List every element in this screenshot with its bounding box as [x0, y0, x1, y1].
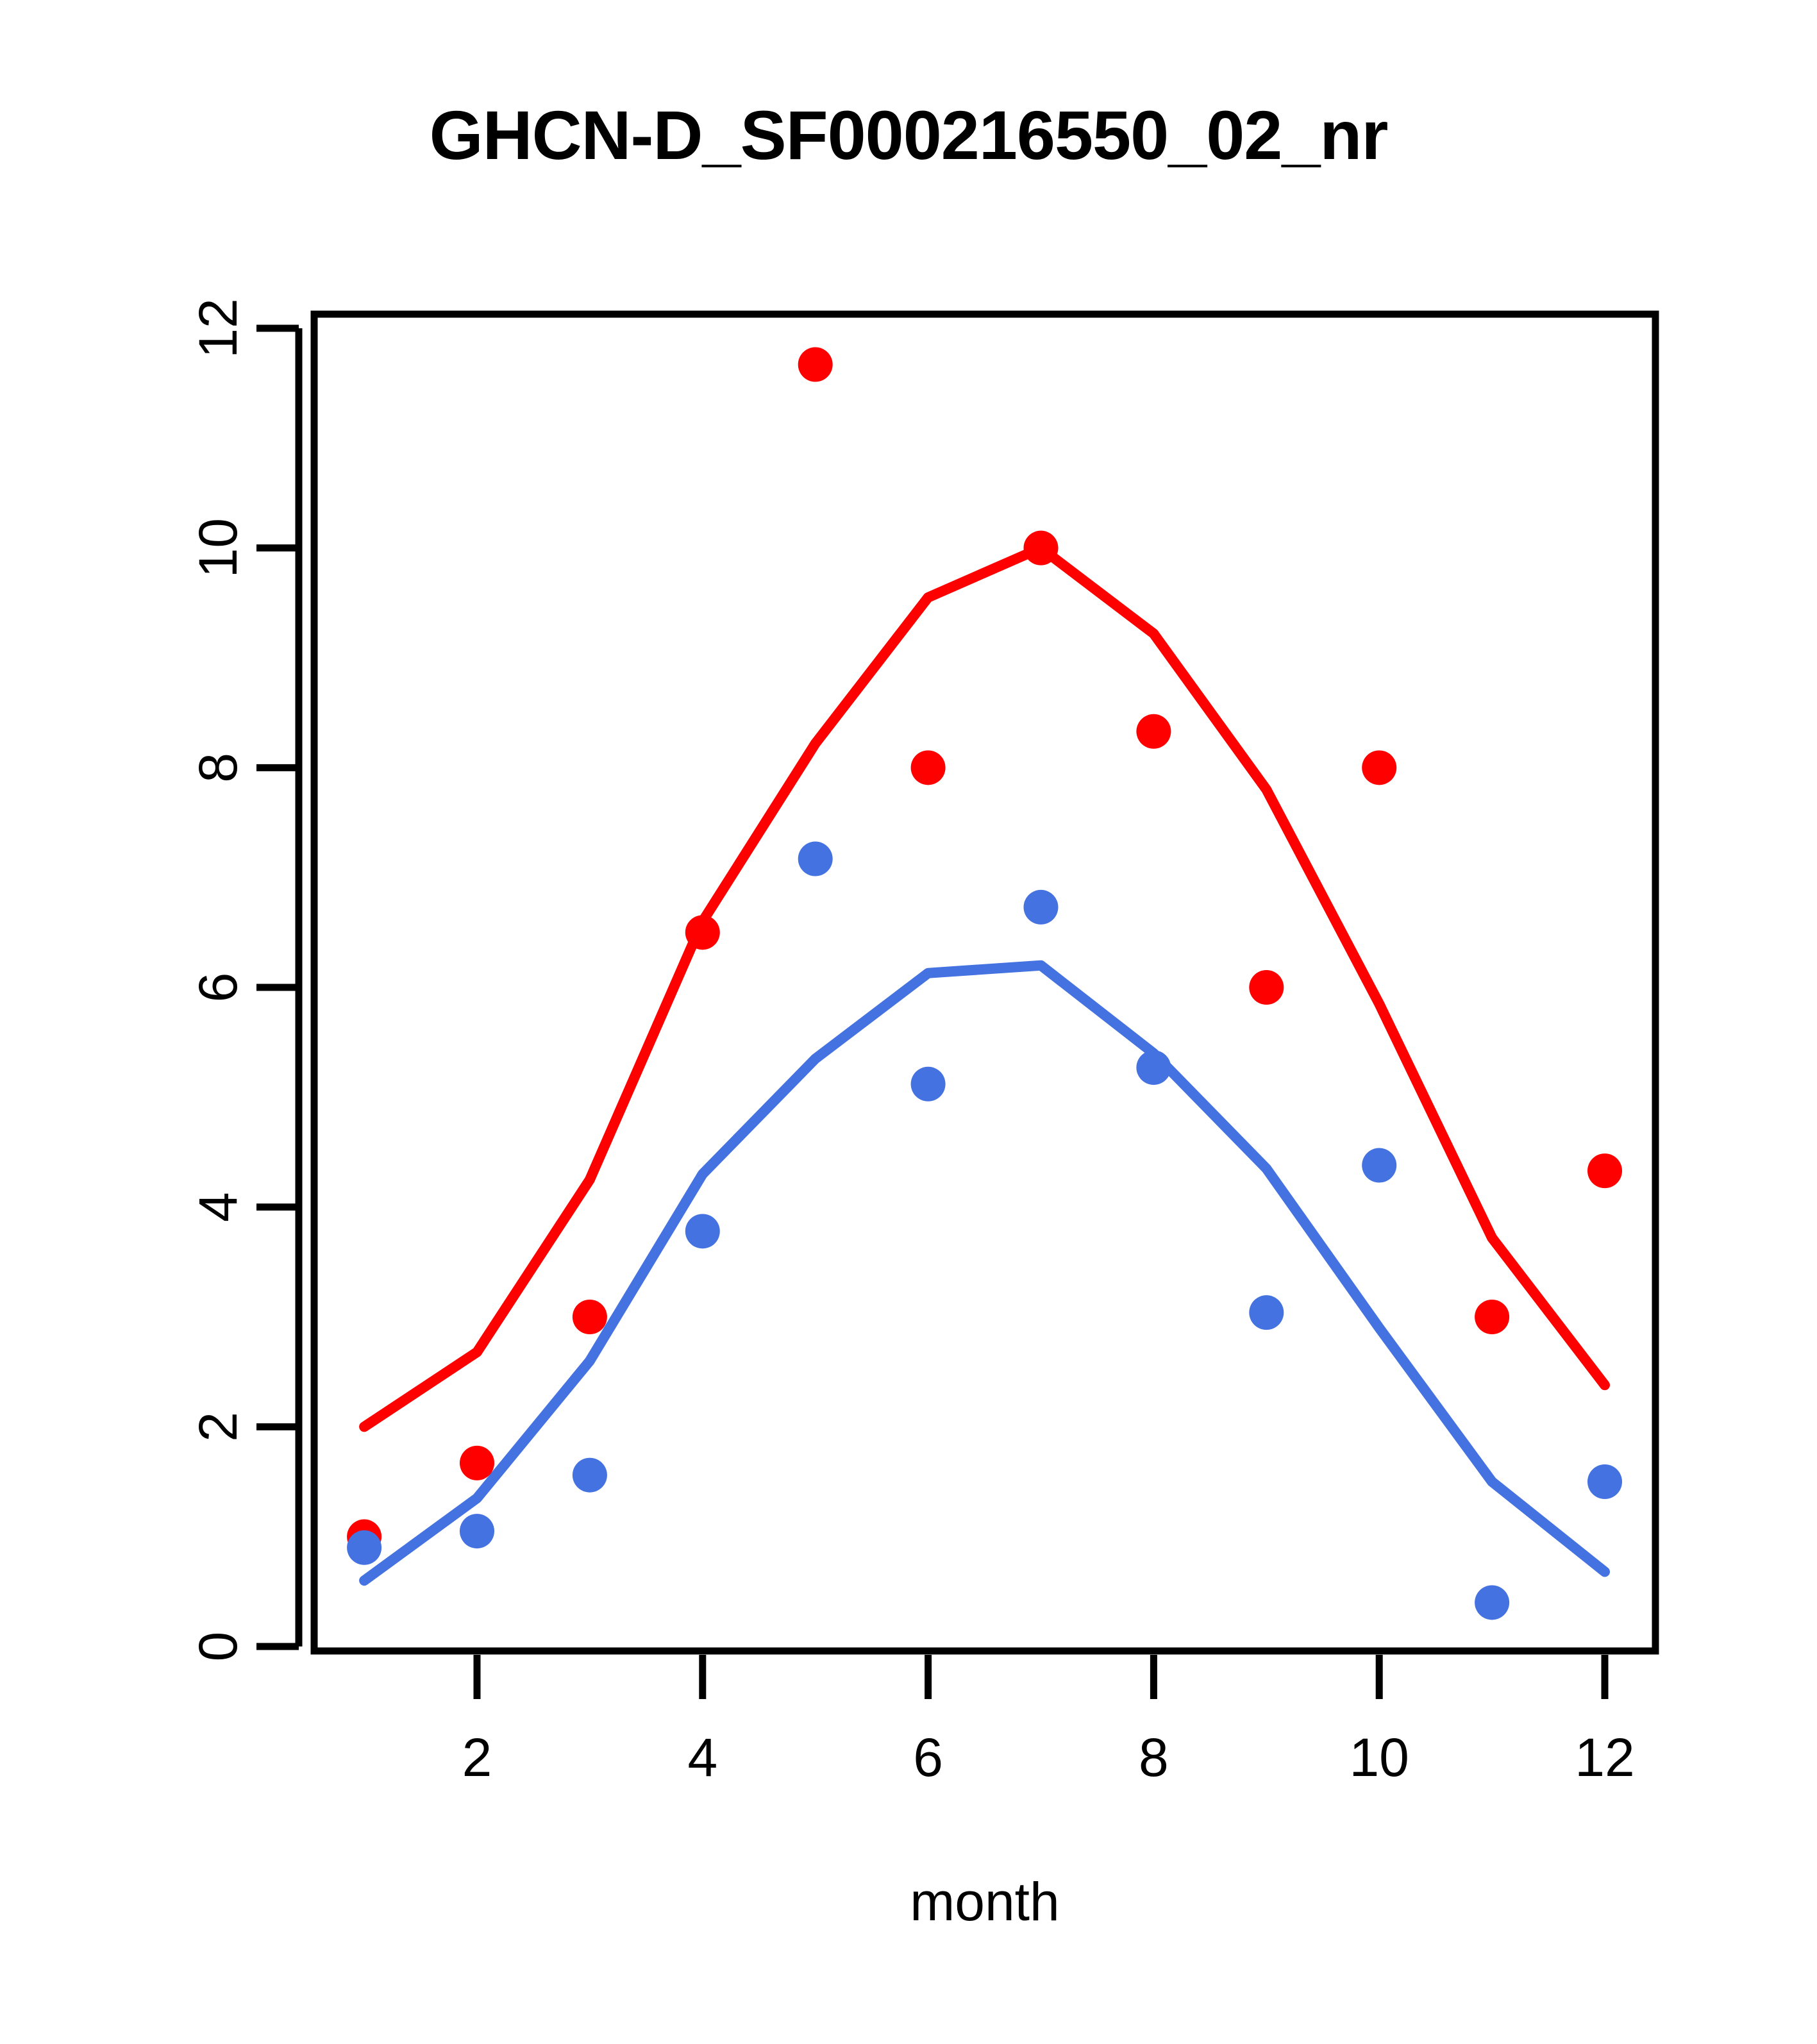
y-tick-label: 12	[188, 298, 248, 358]
x-tick-label: 8	[1139, 1727, 1169, 1788]
y-tick-label: 6	[188, 973, 248, 1003]
data-point-blue-points	[573, 1458, 607, 1493]
x-tick-group: 24681012	[462, 1655, 1635, 1788]
data-point-red-points	[1587, 1153, 1622, 1188]
data-point-red-points	[1136, 714, 1171, 749]
y-tick-label: 2	[188, 1412, 248, 1442]
data-point-blue-points	[347, 1530, 381, 1565]
data-point-blue-points	[1362, 1148, 1396, 1183]
chart-page: GHCN-D_SF000216550_02_nr 024681012 24681…	[0, 0, 1817, 2044]
data-point-red-points	[1024, 531, 1059, 565]
series-line-blue-line	[364, 966, 1605, 1580]
data-point-blue-points	[1587, 1464, 1622, 1499]
x-tick-label: 4	[687, 1727, 717, 1788]
y-tick-label: 10	[188, 518, 248, 578]
data-point-red-points	[1475, 1300, 1509, 1334]
series-lines-group	[364, 548, 1605, 1581]
data-point-red-points	[1249, 970, 1284, 1005]
series-line-red-line	[364, 548, 1605, 1427]
data-point-blue-points	[460, 1514, 494, 1548]
plot-area: 024681012 24681012 month	[0, 0, 1817, 2044]
y-tick-label: 0	[188, 1632, 248, 1662]
data-point-blue-points	[911, 1067, 946, 1102]
y-tick-group: 024681012	[188, 298, 299, 1661]
chart-svg: 024681012 24681012 month	[0, 0, 1817, 2044]
x-tick-label: 12	[1575, 1727, 1634, 1788]
data-point-red-points	[685, 915, 720, 950]
x-tick-label: 2	[462, 1727, 492, 1788]
x-tick-label: 6	[913, 1727, 943, 1788]
data-point-red-points	[1362, 750, 1396, 785]
data-point-red-points	[573, 1300, 607, 1334]
data-point-blue-points	[685, 1214, 720, 1248]
data-point-blue-points	[1475, 1585, 1509, 1620]
x-axis-title: month	[910, 1872, 1059, 1932]
data-point-red-points	[460, 1446, 494, 1480]
data-point-red-points	[911, 750, 946, 785]
x-tick-label: 10	[1349, 1727, 1409, 1788]
data-point-red-points	[798, 348, 833, 382]
y-tick-label: 4	[188, 1192, 248, 1222]
data-point-blue-points	[1136, 1050, 1171, 1085]
y-tick-label: 8	[188, 753, 248, 783]
data-point-blue-points	[1024, 890, 1059, 925]
data-point-blue-points	[1249, 1295, 1284, 1330]
data-point-blue-points	[798, 842, 833, 876]
